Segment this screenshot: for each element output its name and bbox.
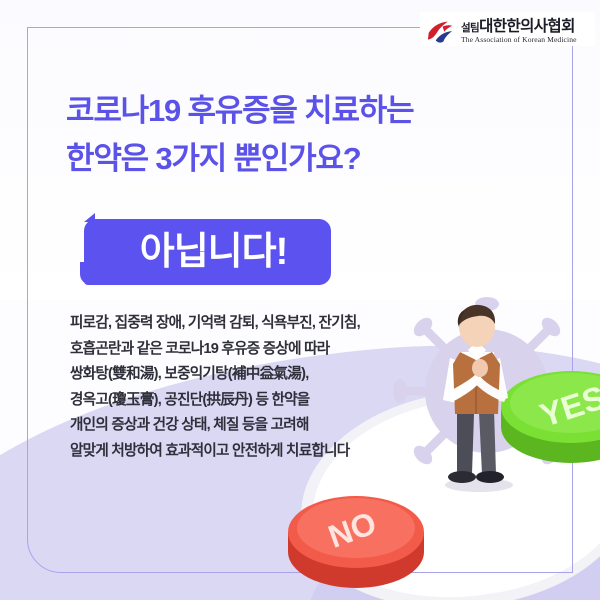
- body-line-6: 알맞게 처방하여 효과적이고 안전하게 치료합니다: [70, 439, 420, 465]
- body-line-2: 호흡곤란과 같은 코로나19 후유증 증상에 따라: [70, 337, 420, 363]
- body-line-3: 쌍화탕(雙和湯), 보중익기탕(補中益氣湯),: [70, 362, 420, 388]
- logo-name-korean: 설팀대한한의사협회: [461, 19, 577, 35]
- answer-speech-bubble: 아닙니다!: [84, 219, 331, 285]
- logo-prefix-korean: 설팀: [461, 22, 479, 34]
- korean-medicine-swoosh-logo-icon: [425, 18, 455, 44]
- headline: 코로나19 후유증을 치료하는 한약은 3가지 뿐인가요?: [66, 88, 486, 184]
- logo-name-korean-main: 대한한의사협회: [479, 18, 575, 35]
- logo-text-block: 설팀대한한의사협회 The Association of Korean Medi…: [461, 19, 577, 44]
- body-paragraph: 피로감, 집중력 장애, 기억력 감퇴, 식욕부진, 잔기침, 호흡곤란과 같은…: [70, 311, 420, 464]
- body-line-5: 개인의 증상과 건강 상태, 체질 등을 고려해: [70, 413, 420, 439]
- card-news-image: 설팀대한한의사협회 The Association of Korean Medi…: [0, 0, 600, 600]
- headline-line-2: 한약은 3가지 뿐인가요?: [66, 136, 486, 182]
- logo-name-english: The Association of Korean Medicine: [461, 36, 577, 44]
- headline-line-1: 코로나19 후유증을 치료하는: [66, 88, 486, 134]
- body-line-4: 경옥고(瓊玉膏), 공진단(拱辰丹) 등 한약을: [70, 388, 420, 414]
- answer-text: 아닙니다!: [128, 233, 288, 271]
- thinking-person-illustration: [424, 302, 534, 492]
- association-logo: 설팀대한한의사협회 The Association of Korean Medi…: [425, 14, 590, 48]
- body-line-1: 피로감, 집중력 장애, 기억력 감퇴, 식욕부진, 잔기침,: [70, 311, 420, 337]
- no-button[interactable]: NO: [283, 480, 428, 590]
